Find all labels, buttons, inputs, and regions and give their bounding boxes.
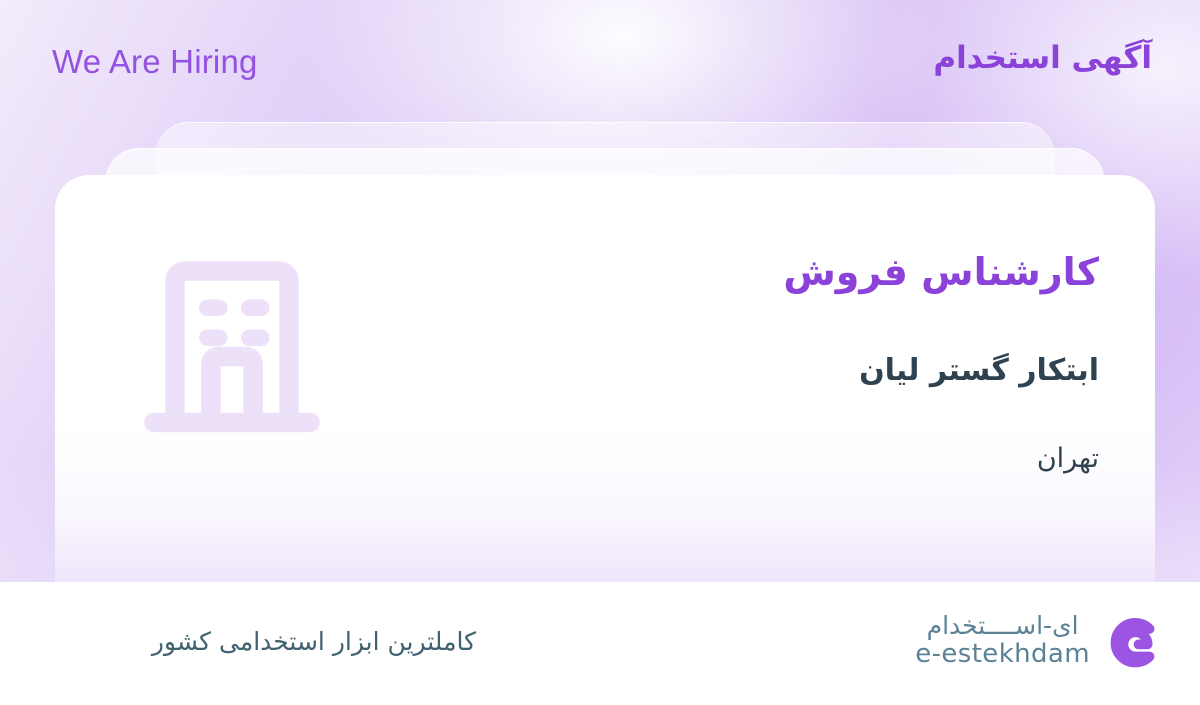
- job-city: تهران: [1037, 443, 1099, 475]
- brand-name-persian: ای-اســــتخدام: [927, 613, 1079, 639]
- footer-bar: کاملترین ابزار استخدامی کشور ای-اســــتخ…: [0, 582, 1200, 705]
- e-estekhdam-logo-icon: [1106, 610, 1168, 672]
- hero-section: We Are Hiring آگهی استخدام: [0, 0, 1200, 582]
- hero-headline-english: We Are Hiring: [52, 43, 258, 81]
- brand-name-english: e-estekhdam: [915, 641, 1090, 668]
- company-name: ابتکار گستر لیان: [859, 353, 1099, 389]
- brand-lockup[interactable]: ای-اســــتخدام e-estekhdam: [915, 610, 1168, 672]
- footer-tagline: کاملترین ابزار استخدامی کشور: [152, 626, 476, 659]
- job-card-content: کارشناس فروش ابتکار گستر لیان تهران: [55, 175, 1155, 582]
- hero-headline-persian: آگهی استخدام: [933, 40, 1152, 76]
- brand-wordmark: ای-اســــتخدام e-estekhdam: [915, 613, 1090, 669]
- job-ad-page: We Are Hiring آگهی استخدام: [0, 0, 1200, 705]
- job-card[interactable]: کارشناس فروش ابتکار گستر لیان تهران: [55, 175, 1155, 582]
- building-icon: [142, 255, 322, 440]
- job-title: کارشناس فروش: [783, 250, 1099, 296]
- hero-header: We Are Hiring آگهی استخدام: [0, 0, 1200, 120]
